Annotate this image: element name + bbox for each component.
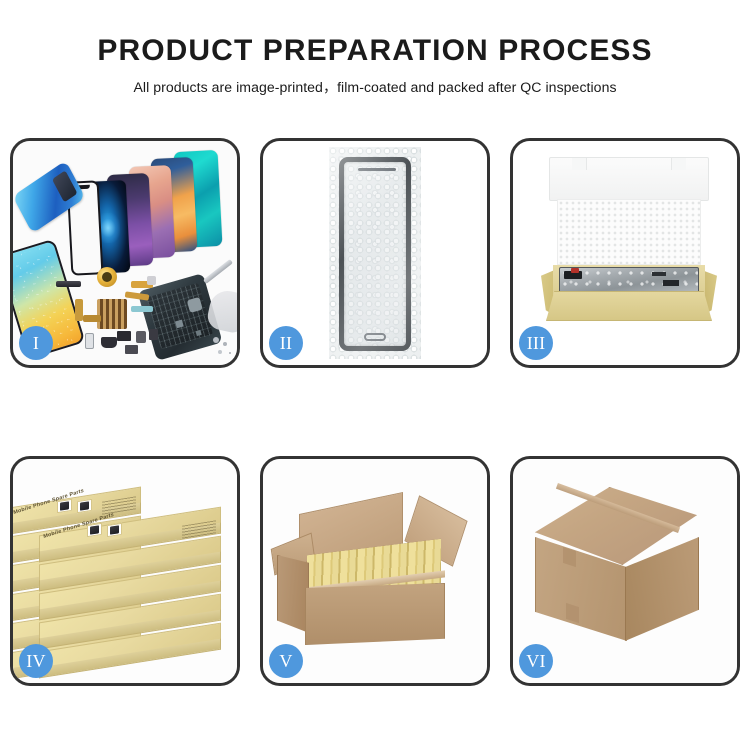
step-panel-1: I xyxy=(10,138,240,368)
header: PRODUCT PREPARATION PROCESS All products… xyxy=(0,34,750,97)
wrapped-screen xyxy=(559,267,699,293)
qc-mark xyxy=(571,268,579,273)
step-badge-3: III xyxy=(519,326,553,360)
chip-part-f xyxy=(125,345,138,354)
step-panel-2: II xyxy=(260,138,490,368)
chip-part-b xyxy=(136,331,146,343)
foam-padding xyxy=(557,199,701,265)
step-badge-6: VI xyxy=(519,644,553,678)
camera-module-part xyxy=(101,337,117,348)
flex-cable-part-d xyxy=(75,299,83,321)
box-artwork-thumb xyxy=(87,523,102,537)
home-button xyxy=(364,333,386,341)
step-panel-5: V xyxy=(260,456,490,686)
vibration-motor-part xyxy=(97,267,117,287)
box-artwork-thumb xyxy=(77,499,92,513)
carton-left-face xyxy=(277,555,309,633)
box-lid xyxy=(549,157,709,201)
speaker-part xyxy=(56,281,81,287)
box-front-wall xyxy=(546,291,712,321)
product-preparation-infographic: PRODUCT PREPARATION PROCESS All products… xyxy=(0,0,750,750)
step-badge-4: IV xyxy=(19,644,53,678)
step-panel-3: III xyxy=(510,138,740,368)
step-badge-5: V xyxy=(269,644,303,678)
steps-grid: I II xyxy=(10,138,740,686)
screen-glass xyxy=(339,157,411,351)
connector-grid-part xyxy=(97,299,127,329)
sim-tray-part xyxy=(85,333,94,349)
screws xyxy=(213,337,219,343)
box-artwork-thumb xyxy=(107,523,122,537)
flex-cable-part-c xyxy=(131,306,153,312)
step-panel-4: Mobile Phone Spare Parts xyxy=(10,456,240,686)
step-panel-6: VI xyxy=(510,456,740,686)
step-badge-2: II xyxy=(269,326,303,360)
box-stack-right: Mobile Phone Spare Parts xyxy=(39,521,221,666)
page-subtitle: All products are image-printed，film-coat… xyxy=(0,77,750,97)
carton-front-face xyxy=(305,583,445,645)
chip-part-a xyxy=(117,331,131,341)
bubble-wrap xyxy=(329,147,421,359)
flex-cable-part-a xyxy=(131,281,153,288)
chip-part-c xyxy=(149,329,158,340)
page-title: PRODUCT PREPARATION PROCESS xyxy=(0,34,750,68)
retail-box xyxy=(39,637,221,665)
flex-cable-part-e xyxy=(83,315,101,322)
box-artwork-thumb xyxy=(57,499,72,513)
step-badge-1: I xyxy=(19,326,53,360)
